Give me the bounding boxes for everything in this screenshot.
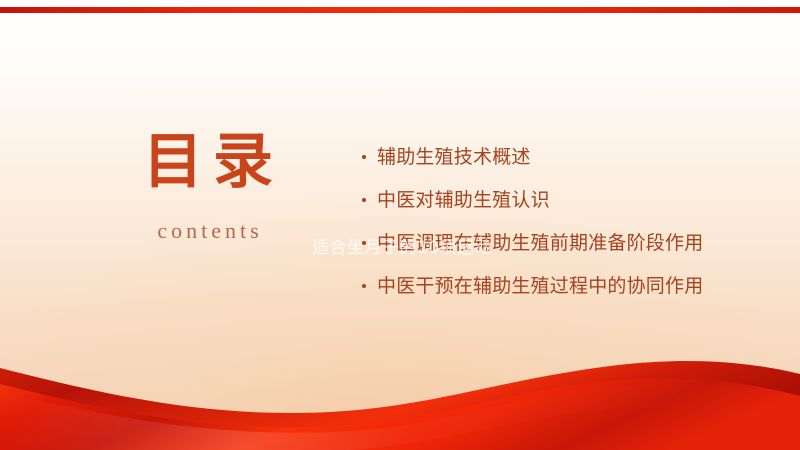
list-item-label: 中医干预在辅助生殖过程中的协同作用 (377, 275, 703, 297)
list-item[interactable]: 中医干预在辅助生殖过程中的协同作用 (360, 271, 728, 302)
list-item[interactable]: 辅助生殖技术概述 (360, 142, 728, 173)
page-title-cn: 目录 (88, 132, 328, 192)
bullet-icon (362, 155, 366, 159)
slide-title-block: 目录 contents (88, 132, 328, 244)
wave-sheen-layer (0, 385, 800, 450)
list-item[interactable]: 中医调理在辅助生殖前期准备阶段作用 (360, 228, 728, 259)
list-item-label: 中医对辅助生殖认识 (377, 189, 550, 211)
presentation-slide: 目录 contents 辅助生殖技术概述 中医对辅助生殖认识 中医调理在辅助生殖… (0, 0, 800, 450)
page-title-en: contents (88, 218, 328, 244)
top-ribbon-decoration (0, 0, 800, 6)
list-item[interactable]: 中医对辅助生殖认识 (360, 185, 728, 216)
table-of-contents-list: 辅助生殖技术概述 中医对辅助生殖认识 中医调理在辅助生殖前期准备阶段作用 中医干… (360, 142, 728, 302)
bullet-icon (362, 284, 366, 288)
top-ribbon-svg (0, 7, 800, 13)
bullet-icon (362, 198, 366, 202)
wave-front-layer (0, 379, 800, 450)
list-item-label: 中医调理在辅助生殖前期准备阶段作用 (377, 232, 703, 254)
bullet-icon (362, 241, 366, 245)
list-item-label: 辅助生殖技术概述 (377, 146, 531, 168)
bottom-wave-svg (0, 340, 800, 450)
bottom-wave-decoration (0, 340, 800, 450)
wave-back-layer (0, 361, 800, 450)
